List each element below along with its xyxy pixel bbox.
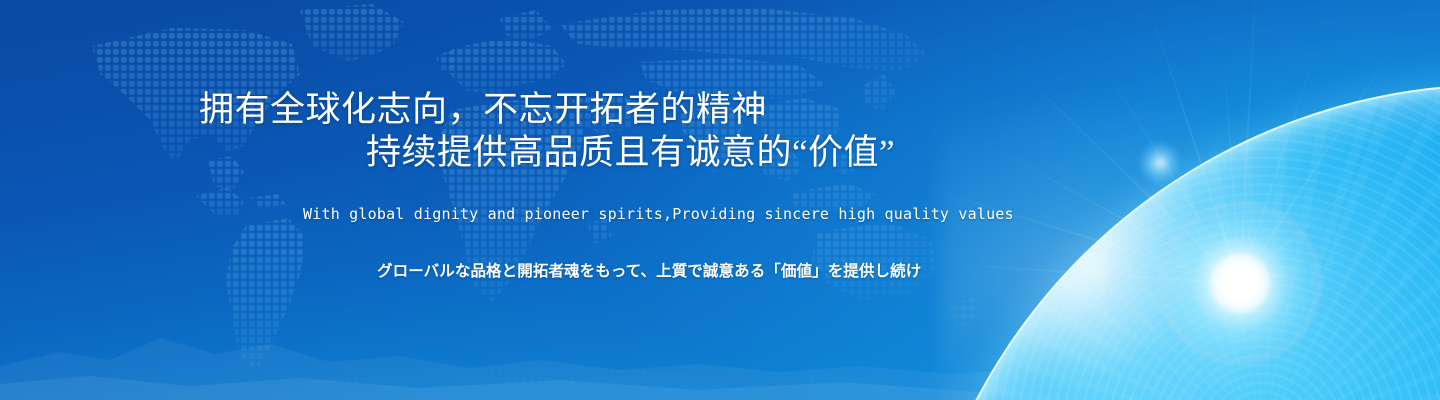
headline-line-1: 拥有全球化志向，不忘开拓者的精神: [199, 88, 767, 132]
hero-banner: 拥有全球化志向，不忘开拓者的精神 持续提供高品质且有诚意的“价值” With g…: [0, 0, 1440, 400]
subline-english: With global dignity and pioneer spirits,…: [303, 205, 1014, 223]
subline-japanese: グローバルな品格と開拓者魂をもって、上質で誠意ある「価値」を提供し続け: [377, 259, 921, 281]
banner-copy: 拥有全球化志向，不忘开拓者的精神 持续提供高品质且有诚意的“价值” With g…: [0, 0, 1440, 400]
headline-line-2: 持续提供高品质且有诚意的“价值”: [366, 131, 895, 175]
